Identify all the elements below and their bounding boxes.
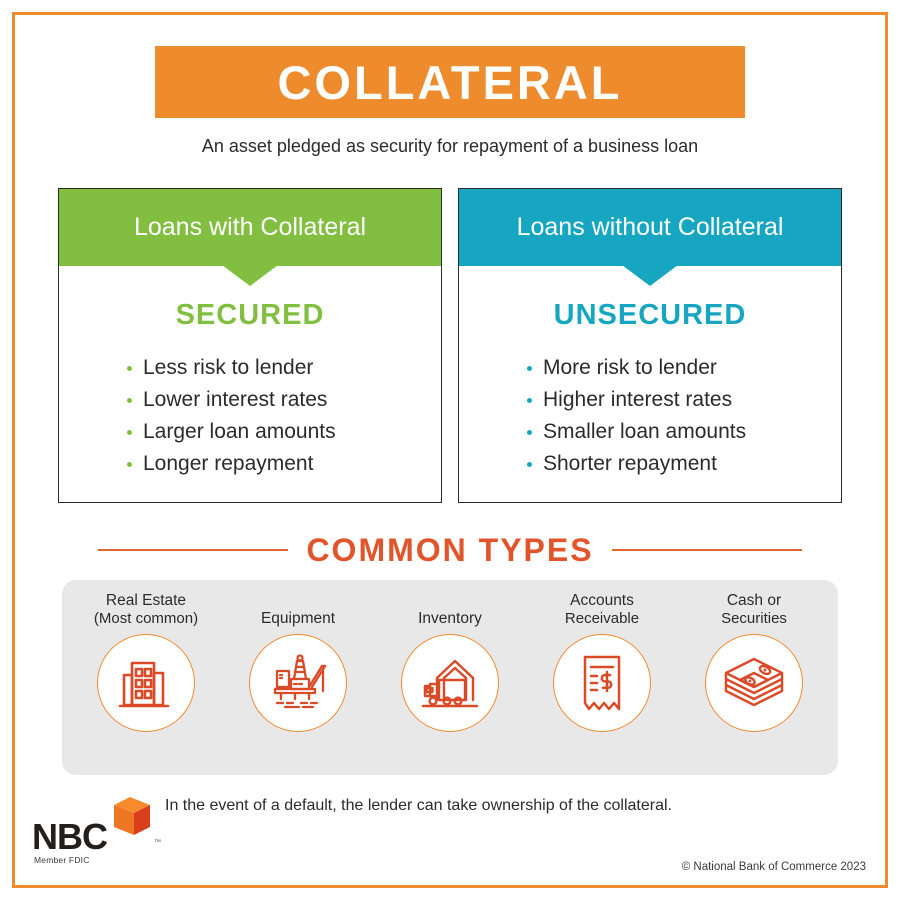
type-label-equipment: Equipment bbox=[261, 590, 335, 628]
type-item-accounts-receivable: Accounts Receivable bbox=[528, 580, 676, 732]
nbc-wordmark: NBC bbox=[32, 819, 107, 855]
type-label-real-estate: Real Estate (Most common) bbox=[94, 590, 198, 628]
unsecured-card-header: Loans without Collateral bbox=[459, 189, 841, 266]
type-label-line2: Receivable bbox=[565, 610, 639, 628]
secured-status-label: SECURED bbox=[59, 301, 441, 330]
trademark-symbol: ™ bbox=[154, 839, 161, 846]
title-banner: COLLATERAL bbox=[155, 46, 745, 118]
list-item: Lower interest rates bbox=[127, 384, 441, 416]
divider-line-right bbox=[612, 549, 802, 551]
page-subtitle: An asset pledged as security for repayme… bbox=[0, 136, 900, 157]
infographic-page: COLLATERAL An asset pledged as security … bbox=[0, 0, 900, 900]
type-label-line2: (Most common) bbox=[94, 610, 198, 628]
type-label-line1: Inventory bbox=[418, 610, 482, 628]
chevron-down-icon bbox=[222, 265, 278, 286]
secured-card-header: Loans with Collateral bbox=[59, 189, 441, 266]
type-item-real-estate: Real Estate (Most common) bbox=[72, 580, 220, 732]
truck-warehouse-icon bbox=[401, 634, 499, 732]
secured-benefit-list: Less risk to lender Lower interest rates… bbox=[59, 352, 441, 480]
list-item: More risk to lender bbox=[527, 352, 841, 384]
divider-line-left bbox=[98, 549, 288, 551]
member-fdic-label: Member FDIC bbox=[34, 855, 90, 865]
common-types-title: COMMON TYPES bbox=[306, 534, 593, 566]
common-types-heading: COMMON TYPES bbox=[58, 527, 842, 573]
crane-rig-icon bbox=[249, 634, 347, 732]
type-label-cash-securities: Cash or Securities bbox=[721, 590, 787, 628]
list-item: Higher interest rates bbox=[527, 384, 841, 416]
invoice-dollar-icon bbox=[553, 634, 651, 732]
unsecured-status-label: UNSECURED bbox=[459, 301, 841, 330]
unsecured-benefit-list: More risk to lender Higher interest rate… bbox=[459, 352, 841, 480]
secured-card-header-label: Loans with Collateral bbox=[134, 215, 366, 240]
list-item: Shorter repayment bbox=[527, 448, 841, 480]
unsecured-card-header-label: Loans without Collateral bbox=[517, 215, 784, 240]
type-label-line1: Equipment bbox=[261, 610, 335, 628]
comparison-section: Loans with Collateral SECURED Less risk … bbox=[58, 188, 842, 503]
type-label-line2: Securities bbox=[721, 610, 787, 628]
list-item: Less risk to lender bbox=[127, 352, 441, 384]
unsecured-card: Loans without Collateral UNSECURED More … bbox=[458, 188, 842, 503]
chevron-down-icon bbox=[622, 265, 678, 286]
list-item: Larger loan amounts bbox=[127, 416, 441, 448]
type-item-cash-securities: Cash or Securities bbox=[680, 580, 828, 732]
list-item: Smaller loan amounts bbox=[527, 416, 841, 448]
nbc-logo: NBC ™ Member FDIC bbox=[32, 793, 162, 863]
type-label-accounts-receivable: Accounts Receivable bbox=[565, 590, 639, 628]
footer-note: In the event of a default, the lender ca… bbox=[165, 797, 765, 815]
type-label-line1: Accounts bbox=[565, 592, 639, 610]
secured-card: Loans with Collateral SECURED Less risk … bbox=[58, 188, 442, 503]
type-item-equipment: Equipment bbox=[224, 580, 372, 732]
type-item-inventory: Inventory bbox=[376, 580, 524, 732]
type-label-line1: Real Estate bbox=[94, 592, 198, 610]
building-icon bbox=[97, 634, 195, 732]
cash-stack-icon bbox=[705, 634, 803, 732]
type-label-inventory: Inventory bbox=[418, 590, 482, 628]
type-label-line1: Cash or bbox=[721, 592, 787, 610]
copyright-text: © National Bank of Commerce 2023 bbox=[682, 861, 866, 873]
list-item: Longer repayment bbox=[127, 448, 441, 480]
common-types-panel: Real Estate (Most common) bbox=[62, 580, 838, 775]
page-title: COLLATERAL bbox=[277, 59, 622, 106]
cube-icon bbox=[108, 795, 152, 844]
